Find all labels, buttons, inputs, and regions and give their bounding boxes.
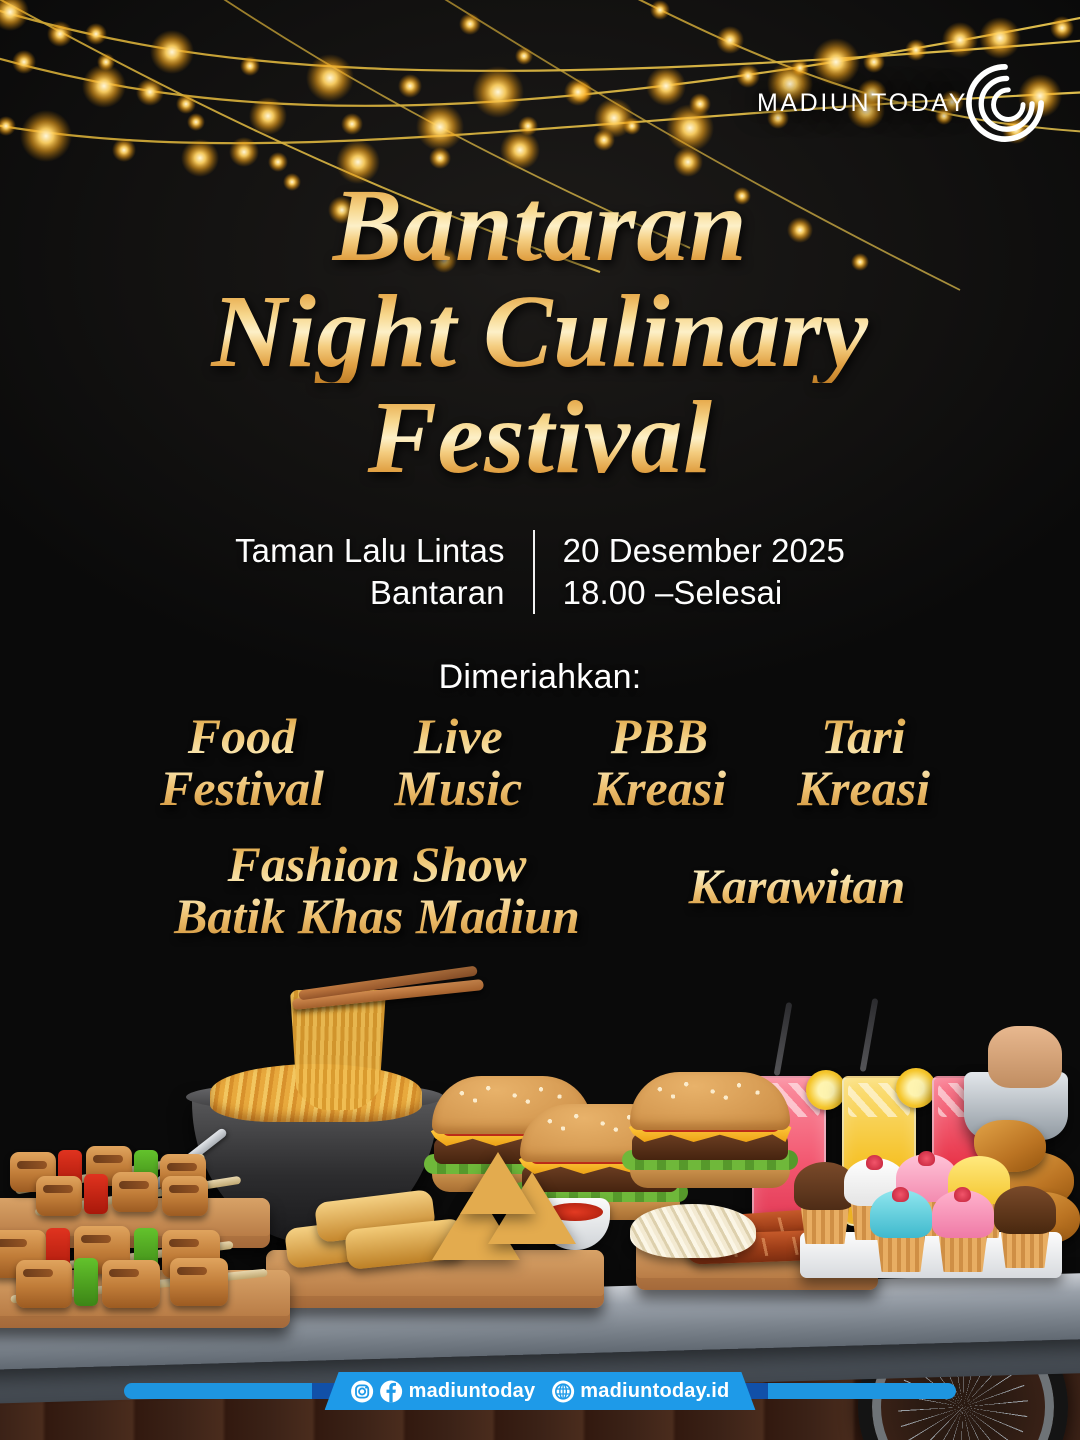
lineup-item-line-2: Kreasi [797,762,930,814]
lineup-item-karawitan: Karawitan [634,838,960,912]
globe-icon[interactable] [551,1380,574,1403]
raspberry [954,1187,971,1202]
poster-canvas: MADIUNTODAY Bantaran Night Culinary Fest… [0,0,1080,1440]
lineup-item-tari-kreasi: Tari Kreasi [797,710,930,814]
title-line-3: Festival [0,387,1080,489]
raspberry [892,1187,909,1202]
event-title: Bantaran Night Culinary Festival [0,175,1080,489]
lineup-item-line-1: Tari [797,710,930,762]
lineup-item-fashion-show: Fashion Show Batik Khas Madiun [120,838,634,942]
lineup-item-line-1: Karawitan [634,860,960,912]
lineup-item-pbb-kreasi: PBB Kreasi [593,710,726,814]
raspberry [866,1155,883,1170]
lineup-item-line-1: Food [160,710,324,762]
lemon-slice [806,1070,846,1110]
hand [988,1026,1062,1088]
cupcake [932,1192,994,1272]
event-info-row: Taman Lalu Lintas Bantaran 20 Desember 2… [0,530,1080,614]
lineup-row-1: Food Festival Live Music PBB Kreasi Tari… [160,710,930,814]
facebook-icon[interactable] [380,1380,403,1403]
instagram-icon[interactable] [351,1380,374,1403]
coleslaw [630,1204,756,1258]
title-line-1: Bantaran [0,175,1080,277]
satay-meat [36,1176,82,1216]
venue-block: Taman Lalu Lintas Bantaran [235,530,533,614]
cupcake [870,1192,932,1272]
venue-line-1: Taman Lalu Lintas [235,530,505,572]
datetime-block: 20 Desember 2025 18.00 –Selesai [535,530,845,614]
food-spread-photo [0,920,1080,1440]
lineup-item-line-2: Kreasi [593,762,726,814]
burger [630,1072,790,1184]
swoosh-arc-icon [964,62,1046,144]
lineup-item-line-1: Fashion Show [120,838,634,890]
satay-meat [170,1258,228,1306]
cupcake [994,1188,1056,1268]
lineup-row-2: Fashion Show Batik Khas Madiun Karawitan [120,838,960,942]
venue-line-2: Bantaran [235,572,505,614]
lemon-slice [896,1068,936,1108]
lineup-item-line-2: Music [394,762,522,814]
drink-straw [860,998,879,1072]
samosa [460,1152,536,1214]
lineup-item-line-1: Live [394,710,522,762]
satay-meat [162,1176,208,1216]
title-line-2: Night Culinary [0,281,1080,383]
bell-pepper [84,1174,108,1214]
stripe-segment [768,1383,956,1399]
satay-meat [102,1260,160,1308]
lineup-item-food-festival: Food Festival [160,710,324,814]
brand-logo: MADIUNTODAY [757,62,1046,144]
event-time: 18.00 –Selesai [563,572,845,614]
social-footer-bar: madiuntoday madiuntoday.id [325,1372,756,1410]
lineup-label: Dimeriahkan: [0,658,1080,697]
lineup-item-line-2: Batik Khas Madiun [120,890,634,942]
website-group[interactable]: madiuntoday.id [551,1380,729,1403]
lineup-item-live-music: Live Music [394,710,522,814]
drink-straw [774,1002,793,1076]
satay-meat [16,1260,72,1308]
lineup-item-line-2: Festival [160,762,324,814]
event-date: 20 Desember 2025 [563,530,845,572]
lineup-item-line-1: PBB [593,710,726,762]
raspberry [918,1151,935,1166]
website-text: madiuntoday.id [580,1380,729,1403]
bell-pepper [74,1258,98,1306]
social-handle-group[interactable]: madiuntoday [351,1380,536,1403]
satay-meat [112,1172,158,1212]
stripe-segment [124,1383,312,1399]
brand-logo-text: MADIUNTODAY [757,89,968,118]
social-handle-text: madiuntoday [409,1380,536,1403]
